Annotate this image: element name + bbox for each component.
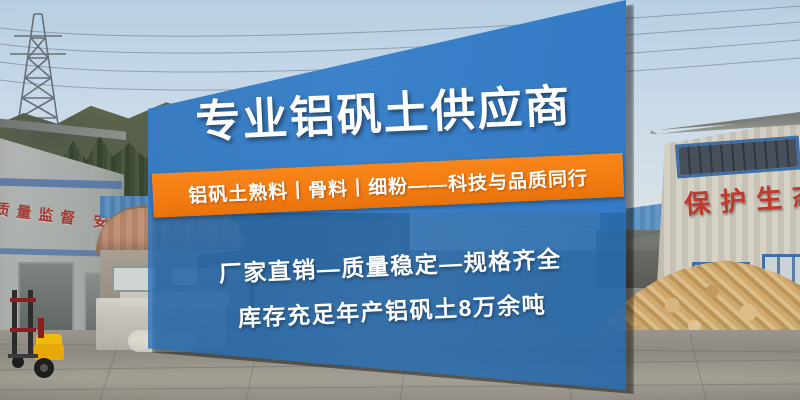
banner-image: 质量监督 安全为首 保护生态	[0, 0, 800, 400]
banner-subline-1: 厂家直销—质量稳定—规格齐全	[151, 237, 630, 292]
banner-ribbon: 铝矾土熟料丨骨料丨细粉——科技与品质同行	[152, 153, 624, 218]
banner-ribbon-text: 铝矾土熟料丨骨料丨细粉——科技与品质同行	[188, 163, 589, 208]
banner-content: 专业铝矾土供应商 铝矾土熟料丨骨料丨细粉——科技与品质同行 厂家直销—质量稳定—…	[139, 0, 634, 400]
banner-headline: 专业铝矾土供应商	[143, 67, 623, 153]
banner-subline-2: 库存充足年产铝矾土8万余吨	[153, 282, 632, 337]
forklift-icon	[6, 288, 68, 384]
